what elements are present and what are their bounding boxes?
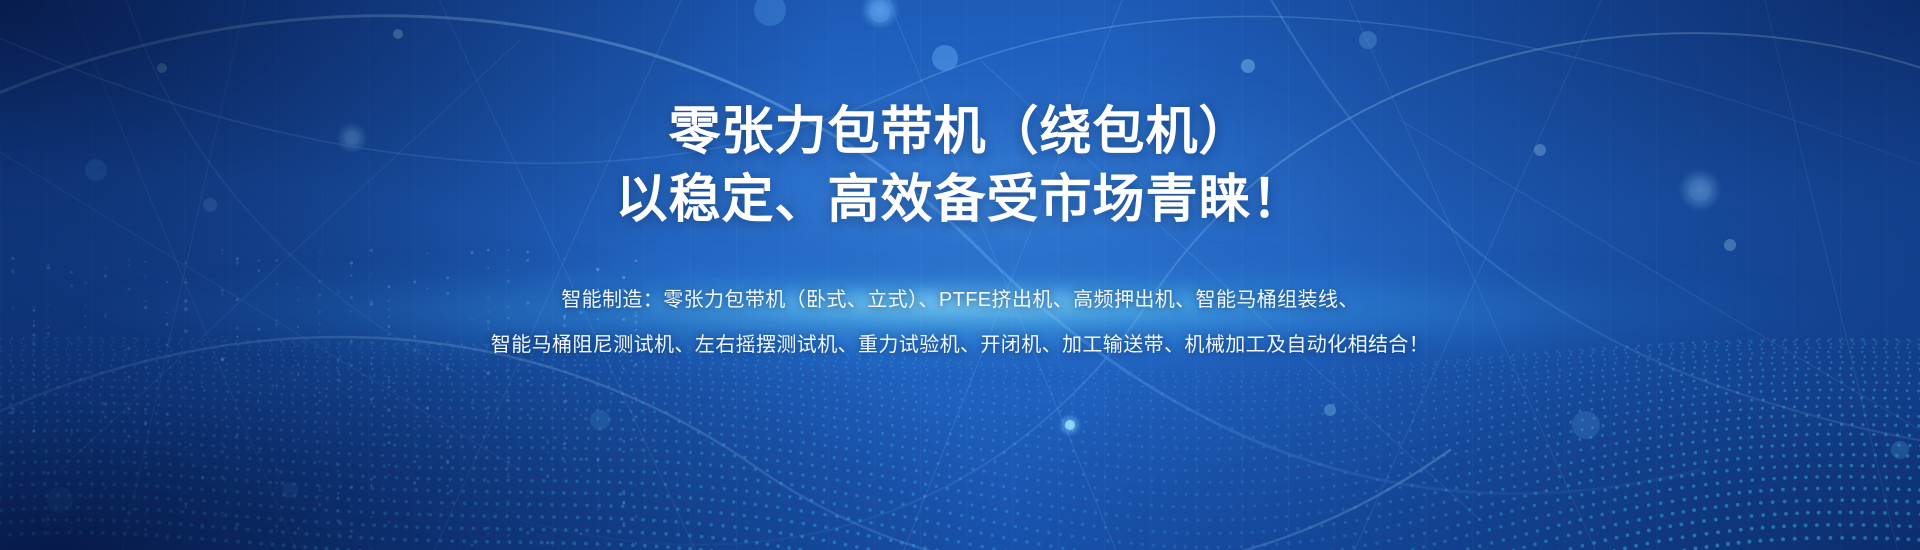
headline-line-1: 零张力包带机（绕包机）: [0, 100, 1920, 164]
hero-banner: 零张力包带机（绕包机） 以稳定、高效备受市场青睐！ 智能制造：零张力包带机（卧式…: [0, 0, 1920, 550]
description-line-1: 智能制造：零张力包带机（卧式、立式）、PTFE挤出机、高频押出机、智能马桶组装线…: [0, 285, 1920, 315]
background-network-graphic: [0, 0, 1920, 550]
particle-wave-mesh: [0, 337, 1920, 550]
headline-line-2: 以稳定、高效备受市场青睐！: [0, 168, 1920, 232]
description-line-2: 智能马桶阻尼测试机、左右摇摆测试机、重力试验机、开闭机、加工输送带、机械加工及自…: [0, 330, 1920, 360]
